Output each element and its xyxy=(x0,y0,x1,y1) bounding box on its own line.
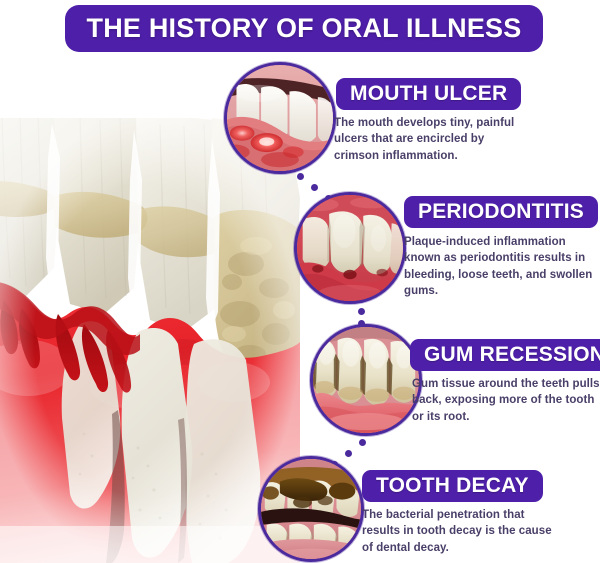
description-gum-recession: Gum tissue around the teeth pulls back, … xyxy=(412,376,600,425)
description-mouth-ulcer: The mouth develops tiny, painful ulcers … xyxy=(334,115,530,164)
dental-cross-section-illustration xyxy=(0,118,300,563)
label-pill-mouth-ulcer: MOUTH ULCER xyxy=(336,78,521,110)
callout-label: PERIODONTITIS xyxy=(418,200,584,224)
photo-gum-recession[interactable] xyxy=(310,324,422,436)
page-title: THE HISTORY OF ORAL ILLNESS xyxy=(87,13,522,44)
photo-mouth-ulcer[interactable] xyxy=(224,62,336,174)
label-pill-gum-recession: GUM RECESSION xyxy=(410,339,600,371)
page-title-banner: THE HISTORY OF ORAL ILLNESS xyxy=(65,5,543,52)
description-tooth-decay: The bacterial penetration that results i… xyxy=(362,507,558,556)
callout-label: TOOTH DECAY xyxy=(376,474,529,498)
label-pill-periodontitis: PERIODONTITIS xyxy=(404,196,598,228)
callout-label: MOUTH ULCER xyxy=(350,82,507,106)
callout-label: GUM RECESSION xyxy=(424,343,600,367)
description-periodontitis: Plaque-induced inflammation known as per… xyxy=(404,234,600,299)
photo-periodontitis[interactable] xyxy=(294,192,406,304)
photo-tooth-decay[interactable] xyxy=(258,456,364,562)
label-pill-tooth-decay: TOOTH DECAY xyxy=(362,470,543,502)
